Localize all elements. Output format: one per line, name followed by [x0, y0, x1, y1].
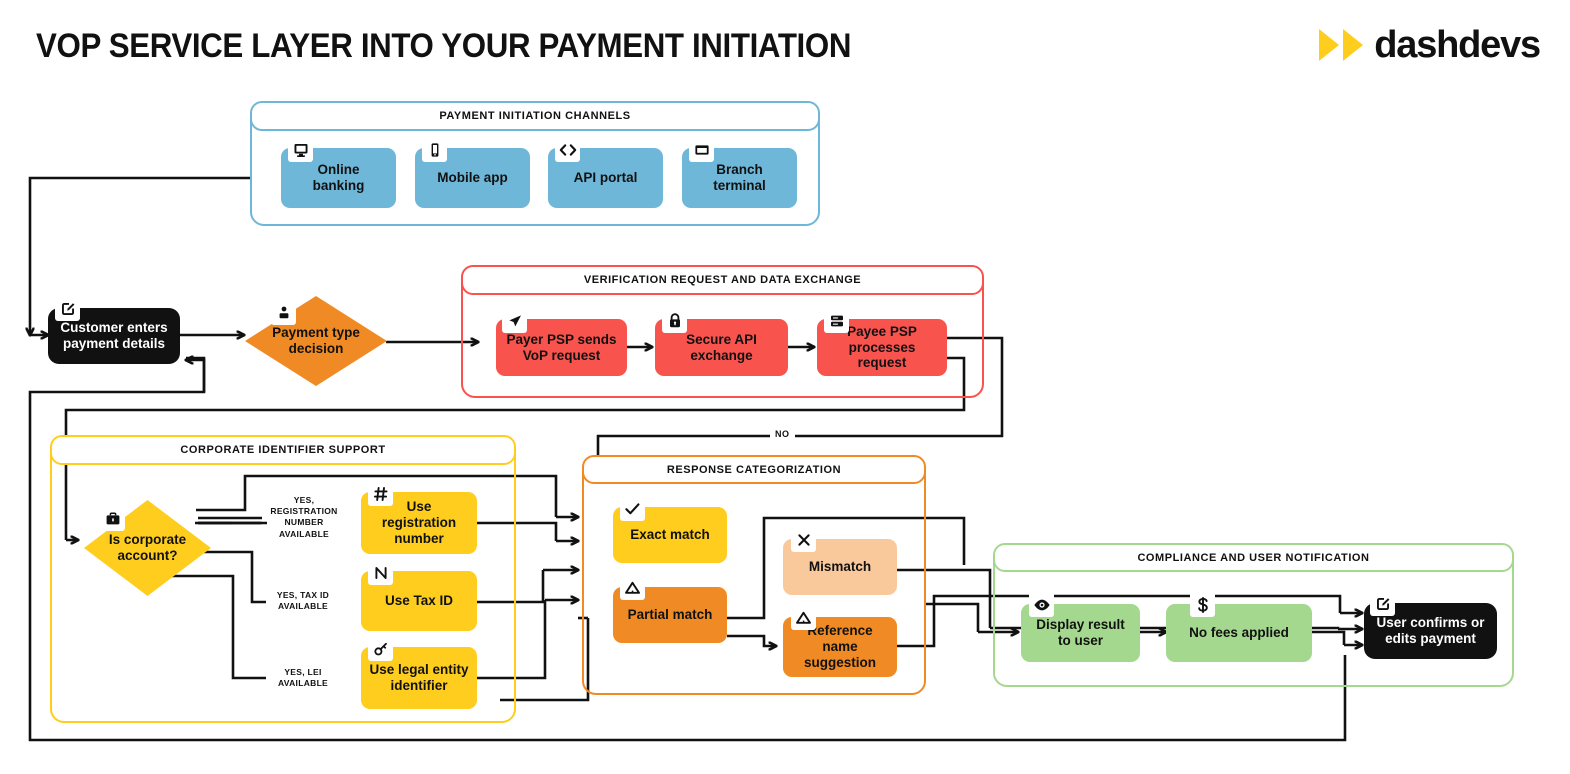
edge-label-registration: YES,REGISTRATIONNUMBERAVAILABLE: [267, 494, 341, 541]
node-exact-match-label: Exact match: [630, 527, 710, 543]
edge-label-lei: YES, LEIAVAILABLE: [266, 666, 340, 690]
send-icon: [502, 308, 527, 333]
diagram-page: VOP SERVICE LAYER INTO YOUR PAYMENT INIT…: [0, 0, 1570, 774]
edit-icon: [55, 296, 80, 321]
close-icon: [791, 527, 816, 552]
edge-label-no: NO: [770, 429, 795, 439]
user-icon: [271, 300, 296, 325]
check-icon: [620, 496, 645, 521]
node-customer-enters-label: Customer enterspayment details: [60, 320, 167, 352]
node-secure-api-label: Secure APIexchange: [686, 332, 757, 364]
node-use-reg-number-label: Useregistrationnumber: [382, 499, 456, 547]
edge-label-tax-id: YES, TAX IDAVAILABLE: [266, 589, 340, 613]
warning-icon: [620, 575, 645, 600]
warning-icon: [791, 605, 816, 630]
node-user-confirms-label: User confirms oredits payment: [1376, 615, 1484, 647]
group-corporate-title: CORPORATE IDENTIFIER SUPPORT: [50, 435, 516, 465]
node-use-lei-label: Use legal entityidentifier: [369, 662, 468, 694]
node-payment-type-decision[interactable]: Payment typedecision: [245, 296, 387, 386]
key-icon: [368, 636, 393, 661]
mobile-icon: [422, 137, 447, 162]
letter-n-icon: [368, 560, 393, 585]
node-use-tax-id-label: Use Tax ID: [385, 593, 453, 609]
node-mobile-app-label: Mobile app: [437, 170, 508, 186]
monitor-icon: [288, 137, 313, 162]
server-icon: [824, 308, 849, 333]
node-payment-type-label: Payment typedecision: [272, 325, 360, 357]
group-response-title: RESPONSE CATEGORIZATION: [582, 455, 926, 484]
node-payer-psp-label: Payer PSP sendsVoP request: [506, 332, 616, 364]
node-no-fees-label: No fees applied: [1189, 625, 1289, 641]
node-api-portal-label: API portal: [574, 170, 638, 186]
node-reference-name-label: Reference namesuggestion: [789, 623, 891, 671]
group-compliance-title: COMPLIANCE AND USER NOTIFICATION: [993, 543, 1514, 572]
hash-icon: [368, 481, 393, 506]
edit-icon: [1370, 591, 1395, 616]
node-online-banking-label: Onlinebanking: [313, 162, 365, 194]
window-icon: [689, 137, 714, 162]
node-partial-match-label: Partial match: [628, 607, 713, 623]
node-display-result-label: Display resultto user: [1036, 617, 1125, 649]
node-branch-terminal-label: Branchterminal: [713, 162, 766, 194]
node-mismatch-label: Mismatch: [809, 559, 871, 575]
node-is-corporate-label: Is corporateaccount?: [109, 532, 186, 564]
code-icon: [555, 137, 580, 162]
lock-icon: [662, 308, 687, 333]
node-no-fees-applied[interactable]: No fees applied: [1166, 604, 1312, 662]
briefcase-icon: [100, 506, 125, 531]
dollar-icon: [1190, 592, 1215, 617]
group-channels-title: PAYMENT INITIATION CHANNELS: [250, 101, 820, 131]
group-verification-title: VERIFICATION REQUEST AND DATA EXCHANGE: [461, 265, 984, 295]
eye-icon: [1029, 592, 1054, 617]
